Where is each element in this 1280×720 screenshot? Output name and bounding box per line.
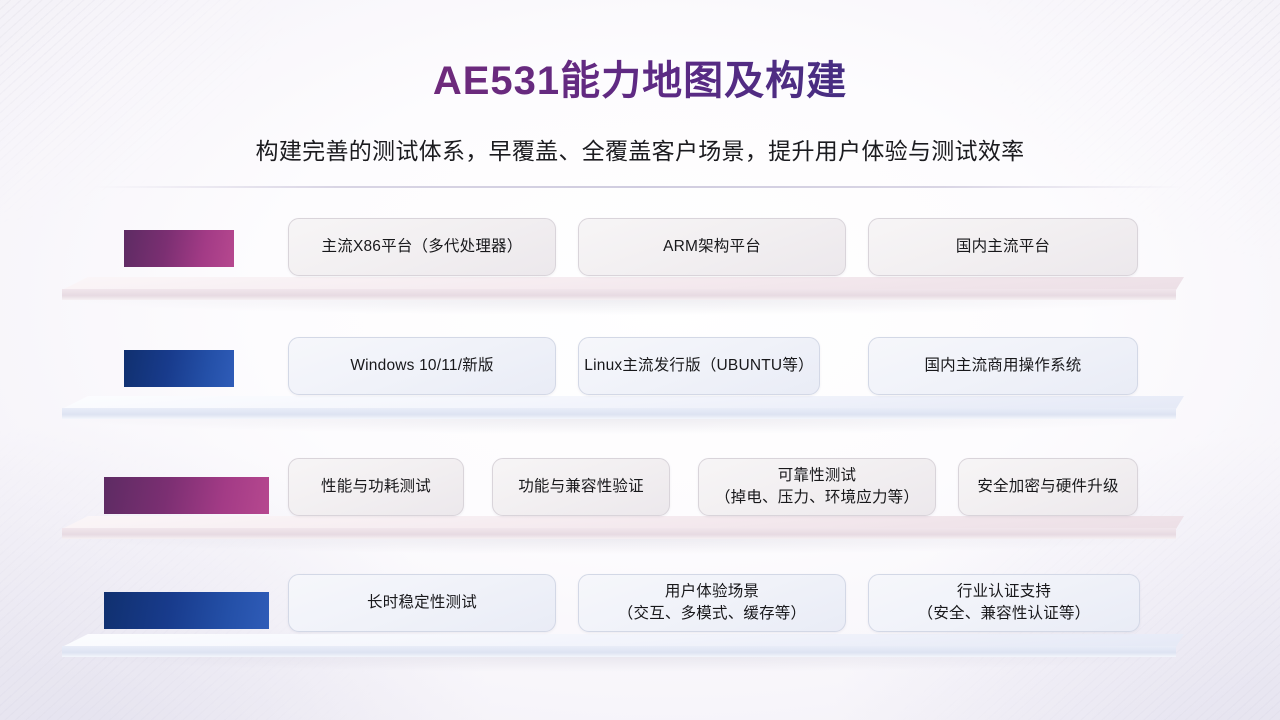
capability-card-line2: （掉电、压力、环境应力等） — [715, 487, 919, 509]
capability-card-line1: 长时稳定性测试 — [367, 592, 477, 614]
capability-card-line1: 安全加密与硬件升级 — [977, 476, 1118, 498]
capability-card[interactable]: Linux主流发行版（UBUNTU等） — [578, 337, 820, 395]
capability-card-text: 用户体验场景（交互、多模式、缓存等） — [618, 581, 806, 626]
shelf-shadow — [72, 538, 1174, 554]
capability-card[interactable]: 可靠性测试（掉电、压力、环境应力等） — [698, 458, 936, 516]
capability-card[interactable]: ARM架构平台 — [578, 218, 846, 276]
capability-card-text: 国内主流平台 — [956, 236, 1050, 258]
row-label: 基础场景覆盖 — [104, 477, 269, 514]
capability-card-line1: 性能与功耗测试 — [321, 476, 431, 498]
capability-card-text: Linux主流发行版（UBUNTU等） — [584, 355, 813, 377]
capability-card[interactable]: 功能与兼容性验证 — [492, 458, 670, 516]
glow-bottom-left — [0, 410, 520, 720]
capability-card[interactable]: 行业认证支持（安全、兼容性认证等） — [868, 574, 1140, 632]
shelf-shadow — [72, 418, 1174, 434]
capability-card[interactable]: 安全加密与硬件升级 — [958, 458, 1138, 516]
capability-card[interactable]: 性能与功耗测试 — [288, 458, 464, 516]
header-divider — [95, 186, 1185, 188]
page-title: AE531能力地图及构建 — [0, 48, 1280, 106]
texture-top-left — [0, 0, 300, 230]
capability-card-line1: 行业认证支持 — [918, 581, 1091, 603]
row-label: 操作系统 — [124, 350, 234, 387]
capability-card-line1: 用户体验场景 — [618, 581, 806, 603]
shelf-shadow — [72, 299, 1174, 315]
capability-card-text: 主流X86平台（多代处理器） — [322, 236, 523, 258]
shelf-front-edge — [62, 408, 1176, 419]
capability-card-text: 长时稳定性测试 — [367, 592, 477, 614]
capability-card-text: 功能与兼容性验证 — [518, 476, 644, 498]
capability-card-line1: Linux主流发行版（UBUNTU等） — [584, 355, 813, 377]
shelf-platform — [62, 634, 1184, 658]
slide-canvas: AE531能力地图及构建 构建完善的测试体系，早覆盖、全覆盖客户场景，提升用户体… — [0, 0, 1280, 720]
capability-card[interactable]: 用户体验场景（交互、多模式、缓存等） — [578, 574, 846, 632]
capability-card[interactable]: Windows 10/11/新版 — [288, 337, 556, 395]
shelf-platform — [62, 277, 1184, 301]
capability-card-line1: 国内主流商用操作系统 — [924, 355, 1081, 377]
capability-card-line1: Windows 10/11/新版 — [350, 355, 493, 377]
shelf-platform — [62, 396, 1184, 420]
capability-card-text: 安全加密与硬件升级 — [977, 476, 1118, 498]
capability-card-line1: 主流X86平台（多代处理器） — [322, 236, 523, 258]
capability-card-text: 国内主流商用操作系统 — [924, 355, 1081, 377]
capability-card-text: 性能与功耗测试 — [321, 476, 431, 498]
shelf-front-edge — [62, 528, 1176, 539]
capability-card-text: ARM架构平台 — [663, 236, 761, 258]
capability-card-line1: 功能与兼容性验证 — [518, 476, 644, 498]
capability-card-line2: （安全、兼容性认证等） — [918, 603, 1091, 625]
capability-card[interactable]: 长时稳定性测试 — [288, 574, 556, 632]
shelf-platform — [62, 516, 1184, 540]
capability-card-text: Windows 10/11/新版 — [350, 355, 493, 377]
shelf-shadow — [72, 656, 1174, 672]
row-label: 硬件平台 — [124, 230, 234, 267]
shelf-front-edge — [62, 289, 1176, 300]
capability-card-line2: （交互、多模式、缓存等） — [618, 603, 806, 625]
page-subtitle: 构建完善的测试体系，早覆盖、全覆盖客户场景，提升用户体验与测试效率 — [0, 132, 1280, 166]
capability-card[interactable]: 国内主流平台 — [868, 218, 1138, 276]
capability-card-line1: ARM架构平台 — [663, 236, 761, 258]
capability-card-text: 行业认证支持（安全、兼容性认证等） — [918, 581, 1091, 626]
row-label: 专项场景强化 — [104, 592, 269, 629]
capability-card[interactable]: 主流X86平台（多代处理器） — [288, 218, 556, 276]
capability-card[interactable]: 国内主流商用操作系统 — [868, 337, 1138, 395]
shelf-front-edge — [62, 646, 1176, 657]
capability-card-text: 可靠性测试（掉电、压力、环境应力等） — [715, 465, 919, 510]
capability-card-line1: 可靠性测试 — [715, 465, 919, 487]
capability-card-line1: 国内主流平台 — [956, 236, 1050, 258]
